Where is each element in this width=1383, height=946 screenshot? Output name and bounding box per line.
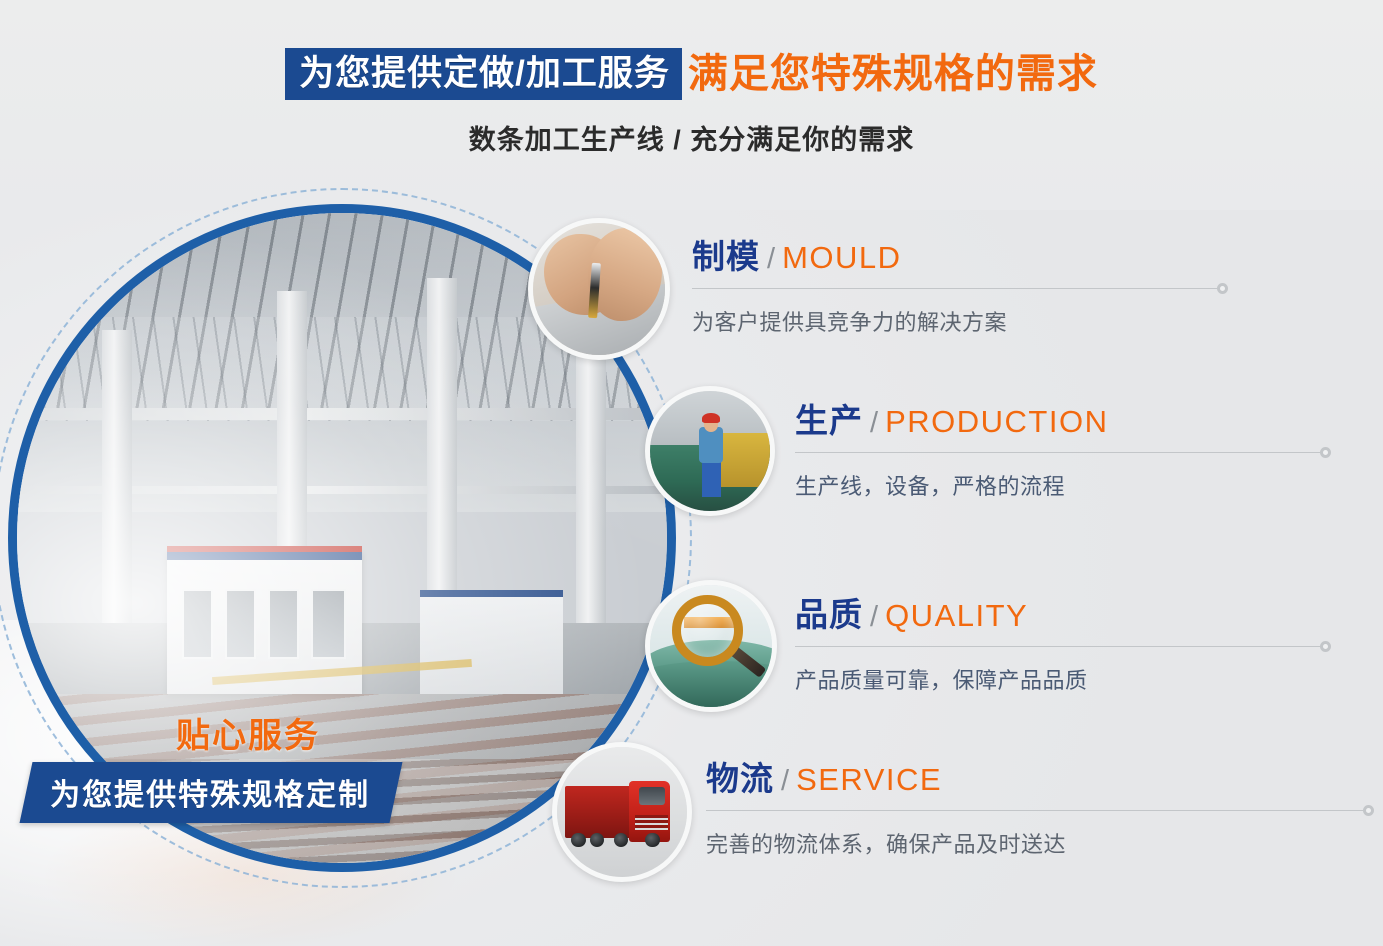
feature-title-cn: 品质	[795, 596, 863, 633]
truck-grille	[635, 815, 668, 831]
feature-title: 品质/QUALITY	[795, 598, 1383, 632]
feature-title-slash: /	[863, 601, 885, 633]
sub-headline: 数条加工生产线 / 充分满足你的需求	[0, 118, 1383, 157]
feature-title-cn: 生产	[795, 402, 863, 439]
hero-caption-banner-label: 为您提供特殊规格定制	[50, 770, 370, 814]
feature-title-slash: /	[774, 765, 796, 797]
truck-windshield	[639, 787, 665, 805]
truck-wheel	[590, 833, 604, 847]
feature-title-slash: /	[863, 407, 885, 439]
truck-trailer	[565, 786, 633, 838]
feature-line-endpoint-dot	[1320, 641, 1331, 652]
feature-title-en: QUALITY	[885, 598, 1028, 633]
feature-title: 生产/PRODUCTION	[795, 404, 1383, 438]
worker-torso	[699, 427, 723, 463]
yellow-machine	[720, 433, 770, 487]
feature-line-endpoint-dot	[1217, 283, 1228, 294]
feature-title-en: SERVICE	[796, 762, 942, 797]
feature-title: 制模/MOULD	[692, 240, 1232, 274]
feature-description: 生产线，设备，严格的流程	[795, 469, 1383, 501]
truck-wheel	[571, 833, 585, 847]
feature-title-en: MOULD	[782, 240, 901, 275]
feature-title-slash: /	[760, 243, 782, 275]
feature-description: 完善的物流体系，确保产品及时送达	[706, 827, 1383, 859]
truck-icon	[552, 742, 692, 882]
hero-caption-heading: 贴心服务	[176, 708, 320, 757]
feature-title: 物流/SERVICE	[706, 762, 1383, 796]
feature-description: 产品质量可靠，保障产品品质	[795, 663, 1383, 695]
poster-header: 为您提供定做/加工服务 满足您特殊规格的需求 数条加工生产线 / 充分满足你的需…	[0, 48, 1383, 157]
hand-scriber-icon	[528, 218, 670, 360]
promo-poster: 为您提供定做/加工服务 满足您特殊规格的需求 数条加工生产线 / 充分满足你的需…	[0, 0, 1383, 946]
truck-wheel	[645, 833, 659, 847]
feature-line-endpoint-dot	[1363, 805, 1374, 816]
factory-worker-icon	[645, 386, 775, 516]
feature-description: 为客户提供具竞争力的解决方案	[692, 305, 1232, 337]
feature-divider-line	[795, 452, 1325, 453]
headline-orange: 满足您特殊规格的需求	[682, 48, 1098, 100]
feature-title-cn: 物流	[706, 760, 774, 797]
worker-legs	[702, 461, 721, 497]
magnifier-lens	[672, 595, 743, 666]
feature-divider-line	[795, 646, 1325, 647]
hero-caption-banner: 为您提供特殊规格定制	[20, 762, 403, 823]
feature-title-en: PRODUCTION	[885, 404, 1108, 439]
feature-divider-line	[692, 288, 1222, 289]
feature-title-cn: 制模	[692, 238, 760, 275]
headline-tag: 为您提供定做/加工服务	[285, 48, 682, 100]
truck-wheel	[614, 833, 628, 847]
feature-divider-line	[706, 810, 1368, 811]
magnifier-icon	[645, 580, 777, 712]
red-helmet	[702, 413, 720, 424]
feature-line-endpoint-dot	[1320, 447, 1331, 458]
headline-row: 为您提供定做/加工服务 满足您特殊规格的需求	[285, 48, 1098, 100]
